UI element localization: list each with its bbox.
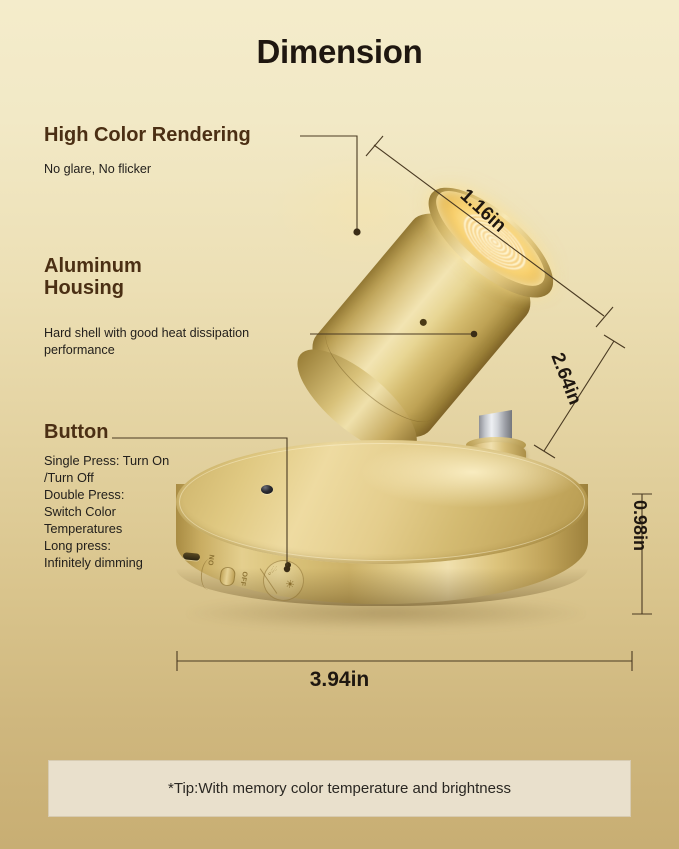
annotation-body-button: Single Press: Turn On /Turn Off Double P…: [44, 452, 169, 571]
tip-banner: *Tip:With memory color temperature and b…: [48, 760, 631, 817]
base-top-rim: [179, 443, 585, 561]
annotation-heading-button: Button: [44, 422, 108, 444]
base-bottom-shading: [176, 568, 588, 606]
dimension-label-base-diameter: 3.94in: [0, 668, 679, 692]
infographic-page: Dimension High Color Rendering No glare,…: [0, 0, 679, 849]
dimension-label-base-height: 0.98in: [629, 500, 650, 551]
page-title: Dimension: [0, 33, 679, 71]
lamp-base: [176, 440, 588, 640]
base-sensor-dot: [261, 485, 273, 494]
function-button-indicator-dot: [285, 562, 291, 568]
lamp-head: [283, 174, 565, 470]
base-top-surface: [176, 440, 588, 564]
annotation-heading-aluminum-housing: Aluminum Housing: [44, 256, 142, 299]
annotation-heading-high-color-rendering: High Color Rendering: [44, 125, 251, 147]
brightness-sun-icon: ☀: [285, 580, 296, 592]
tip-text: *Tip:With memory color temperature and b…: [168, 780, 511, 797]
annotation-body-high-color-rendering: No glare, No flicker: [44, 161, 151, 178]
dimension-label-head-diameter: 2.64in: [545, 350, 585, 408]
leader-line-high-color-rendering: [300, 136, 357, 232]
annotation-body-aluminum-housing: Hard shell with good heat dissipation pe…: [44, 325, 249, 359]
bulb-icon: ☄: [268, 568, 278, 579]
